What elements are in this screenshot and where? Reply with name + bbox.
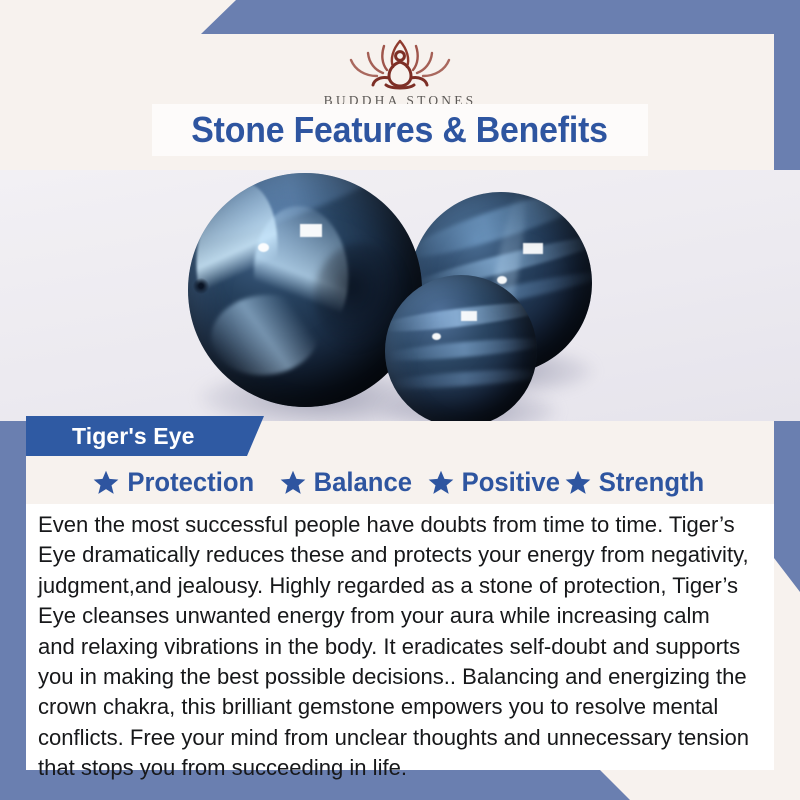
benefit-strength: Strength bbox=[565, 467, 707, 498]
benefit-positive: Positive bbox=[428, 467, 563, 498]
benefit-label-balance: Balance bbox=[313, 467, 411, 498]
page-title-band: Stone Features & Benefits bbox=[152, 104, 648, 156]
lotus-meditation-icon bbox=[327, 34, 473, 92]
benefit-label-positive: Positive bbox=[462, 467, 560, 498]
poster-canvas: BUDDHA STONES Stone Features & Benefits bbox=[0, 0, 800, 800]
star-icon bbox=[280, 470, 311, 495]
benefit-label-protection: Protection bbox=[128, 467, 255, 498]
benefits-row: Protection Balance Positive Strength bbox=[26, 462, 774, 502]
star-icon bbox=[93, 470, 124, 495]
star-icon bbox=[565, 470, 596, 495]
brand-header: BUDDHA STONES bbox=[0, 34, 800, 106]
gem-small-sphere bbox=[385, 275, 537, 421]
hero-photo bbox=[0, 170, 800, 421]
stone-name-label: Tiger's Eye bbox=[72, 423, 195, 450]
benefit-label-strength: Strength bbox=[599, 467, 704, 498]
description-panel: Even the most successful people have dou… bbox=[26, 504, 774, 770]
benefit-balance: Balance bbox=[280, 467, 415, 498]
description-text: Even the most successful people have dou… bbox=[38, 510, 749, 784]
page-title: Stone Features & Benefits bbox=[192, 109, 609, 151]
frame-top-bar bbox=[0, 0, 800, 34]
stone-name-ribbon: Tiger's Eye bbox=[26, 416, 264, 456]
gem-large-sphere bbox=[188, 173, 422, 407]
benefit-protection: Protection bbox=[93, 467, 258, 498]
star-icon bbox=[428, 470, 459, 495]
